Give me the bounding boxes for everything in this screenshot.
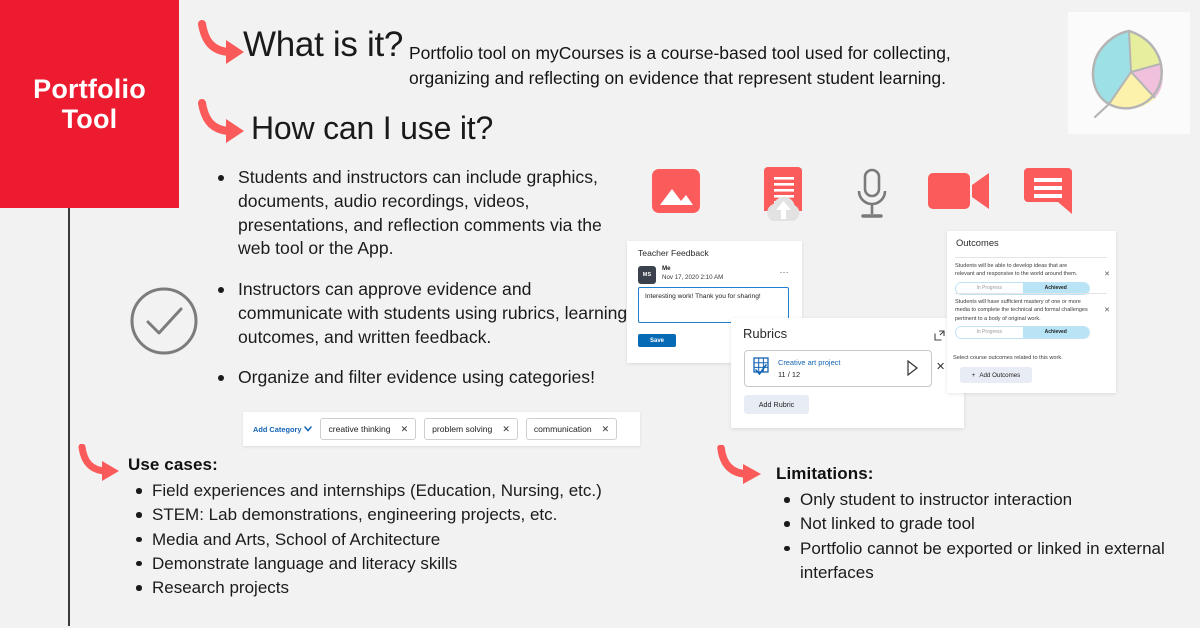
video-camera-icon bbox=[928, 169, 990, 218]
media-icon-row bbox=[650, 165, 1070, 225]
category-chip-label: communication bbox=[534, 424, 592, 434]
close-icon[interactable]: ✕ bbox=[401, 424, 409, 435]
list-item: Only student to instructor interaction bbox=[776, 488, 1186, 512]
outcome-in-progress-option[interactable]: In Progress bbox=[956, 283, 1023, 294]
outcome-text: Students will be able to develop ideas t… bbox=[955, 262, 1088, 279]
vertical-divider bbox=[68, 208, 70, 626]
image-icon bbox=[650, 165, 702, 222]
document-upload-icon bbox=[760, 165, 808, 228]
list-item: Instructors can approve evidence and com… bbox=[210, 278, 630, 349]
arrow-limitations-icon bbox=[714, 445, 770, 491]
chevron-down-icon bbox=[304, 425, 312, 434]
arrow-use-cases-icon bbox=[76, 444, 128, 486]
feedback-author: Me bbox=[662, 265, 671, 272]
add-outcomes-label: Add Outcomes bbox=[979, 372, 1020, 379]
rubric-item[interactable]: Creative art project 11 / 12 bbox=[744, 350, 932, 387]
add-rubric-button[interactable]: Add Rubric bbox=[744, 395, 809, 414]
rubrics-title: Rubrics bbox=[743, 326, 787, 341]
outcome-item: Students will be able to develop ideas t… bbox=[955, 262, 1110, 295]
microphone-icon bbox=[852, 168, 892, 227]
outcome-in-progress-option[interactable]: In Progress bbox=[956, 327, 1023, 338]
outcome-text: Students will have sufficient mastery of… bbox=[955, 298, 1088, 323]
close-icon[interactable]: ✕ bbox=[502, 424, 510, 435]
list-item: Demonstrate language and literacy skills bbox=[128, 552, 688, 576]
what-is-it-body: Portfolio tool on myCourses is a course-… bbox=[409, 41, 1024, 91]
expand-icon[interactable] bbox=[934, 328, 945, 346]
use-cases-section: Use cases: Field experiences and interns… bbox=[128, 455, 688, 600]
rubrics-card: Rubrics Creative art project 11 / 12 bbox=[731, 318, 964, 428]
page-title-line1: Portfolio bbox=[33, 74, 146, 104]
logo-container bbox=[1068, 12, 1190, 134]
use-cases-list: Field experiences and internships (Educa… bbox=[128, 479, 688, 600]
play-triangle-icon[interactable] bbox=[907, 360, 918, 381]
what-is-it-line2: organizing and reflecting on evidence th… bbox=[409, 66, 1024, 91]
poster-canvas: Portfolio Tool What is it? Portfolio too… bbox=[0, 0, 1200, 628]
leaf-logo bbox=[1085, 24, 1173, 122]
divider bbox=[955, 257, 1107, 258]
more-options-icon[interactable]: ... bbox=[780, 267, 789, 273]
category-chip-label: creative thinking bbox=[328, 424, 390, 434]
category-chip-label: problem solving bbox=[432, 424, 492, 434]
remove-rubric-button[interactable]: ✕ bbox=[936, 360, 945, 373]
outcomes-card: Outcomes Students will be able to develo… bbox=[947, 231, 1116, 393]
list-item: STEM: Lab demonstrations, engineering pr… bbox=[128, 503, 688, 527]
list-item: Students and instructors can include gra… bbox=[210, 166, 630, 261]
categories-bar: Add Category creative thinking ✕ problem… bbox=[243, 412, 640, 446]
category-chip[interactable]: creative thinking ✕ bbox=[320, 418, 416, 440]
add-category-label: Add Category bbox=[253, 425, 301, 434]
page-title-line2: Tool bbox=[62, 104, 118, 134]
outcome-achieved-option[interactable]: Achieved bbox=[1023, 327, 1090, 338]
what-is-it-line1: Portfolio tool on myCourses is a course-… bbox=[409, 43, 951, 63]
comment-icon bbox=[1022, 166, 1074, 223]
rubric-score: 11 / 12 bbox=[778, 370, 800, 379]
use-cases-heading: Use cases: bbox=[128, 455, 688, 475]
list-item: Media and Arts, School of Architecture bbox=[128, 528, 688, 552]
list-item: Portfolio cannot be exported or linked i… bbox=[776, 537, 1186, 586]
teacher-feedback-title: Teacher Feedback bbox=[638, 248, 709, 258]
avatar: MS bbox=[638, 266, 656, 284]
feedback-timestamp: Nov 17, 2020 2:10 AM bbox=[662, 274, 723, 281]
heading-how-can-i-use-it: How can I use it? bbox=[251, 110, 493, 147]
save-button[interactable]: Save bbox=[638, 334, 676, 347]
list-item: Field experiences and internships (Educa… bbox=[128, 479, 688, 503]
brand-block: Portfolio Tool bbox=[0, 0, 179, 208]
heading-what-is-it: What is it? bbox=[243, 25, 403, 65]
rubric-name: Creative art project bbox=[778, 358, 840, 367]
limitations-heading: Limitations: bbox=[776, 464, 1186, 484]
outcome-status-toggle[interactable]: In Progress Achieved bbox=[955, 326, 1090, 339]
remove-outcome-button[interactable]: ✕ bbox=[1104, 270, 1110, 278]
main-bullet-list: Students and instructors can include gra… bbox=[210, 166, 630, 407]
list-item: Research projects bbox=[128, 576, 688, 600]
category-chip[interactable]: communication ✕ bbox=[526, 418, 617, 440]
list-item: Organize and filter evidence using categ… bbox=[210, 366, 630, 390]
divider bbox=[955, 293, 1107, 294]
add-category-button[interactable]: Add Category bbox=[253, 425, 312, 434]
remove-outcome-button[interactable]: ✕ bbox=[1104, 306, 1110, 314]
outcomes-note: Select course outcomes related to this w… bbox=[953, 355, 1063, 361]
add-outcomes-button[interactable]: + Add Outcomes bbox=[960, 367, 1032, 383]
close-icon[interactable]: ✕ bbox=[602, 424, 610, 435]
outcomes-title: Outcomes bbox=[956, 237, 999, 248]
check-circle-icon bbox=[128, 285, 200, 362]
page-title: Portfolio Tool bbox=[33, 74, 146, 134]
outcome-item: Students will have sufficient mastery of… bbox=[955, 298, 1110, 339]
list-item: Not linked to grade tool bbox=[776, 512, 1186, 536]
category-chip[interactable]: problem solving ✕ bbox=[424, 418, 518, 440]
rubric-grid-icon bbox=[753, 357, 771, 382]
limitations-section: Limitations: Only student to instructor … bbox=[776, 464, 1186, 585]
outcome-achieved-option[interactable]: Achieved bbox=[1023, 283, 1090, 294]
arrow-how-can-i-use-it-icon bbox=[196, 99, 252, 149]
limitations-list: Only student to instructor interaction N… bbox=[776, 488, 1186, 585]
plus-icon: + bbox=[972, 372, 976, 379]
